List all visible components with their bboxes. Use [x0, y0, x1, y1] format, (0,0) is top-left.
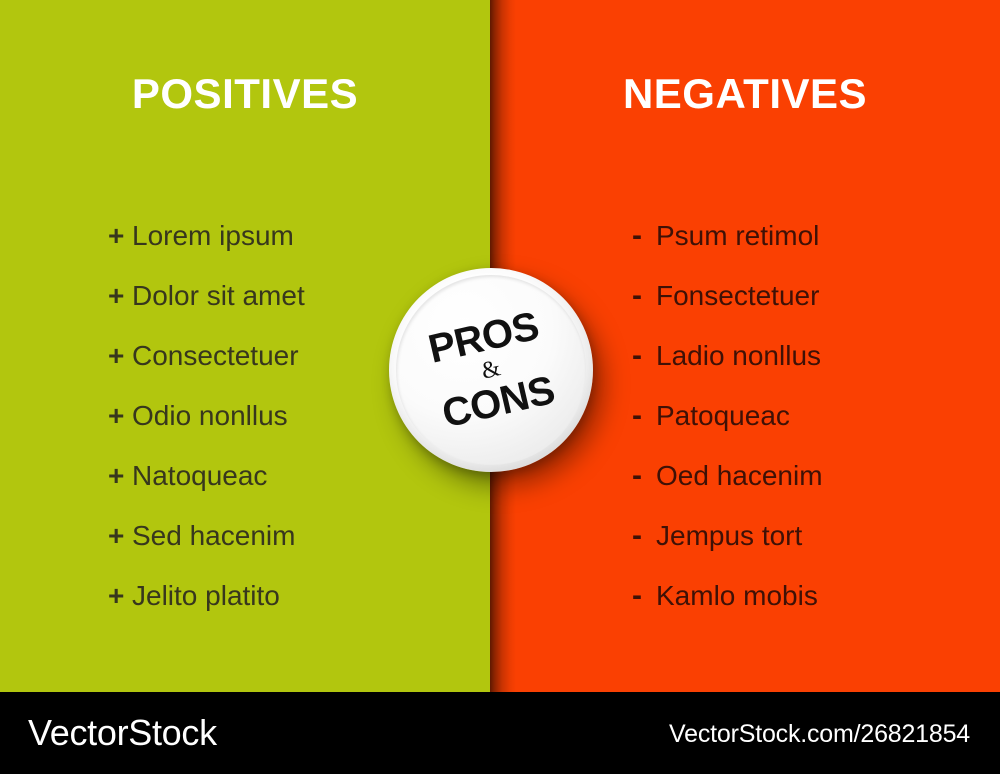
plus-icon: +	[108, 454, 132, 498]
minus-icon: -	[632, 394, 656, 438]
list-item-label: Dolor sit amet	[132, 274, 305, 318]
plus-icon: +	[108, 214, 132, 258]
list-item-label: Consectetuer	[132, 334, 299, 378]
list-item: -Patoqueac	[632, 394, 962, 454]
list-item-label: Sed hacenim	[132, 514, 295, 558]
plus-icon: +	[108, 274, 132, 318]
minus-icon: -	[632, 514, 656, 558]
list-item: +Jelito platito	[108, 574, 438, 634]
positives-list: +Lorem ipsum +Dolor sit amet +Consectetu…	[108, 214, 438, 634]
badge-cons-label: CONS	[438, 368, 558, 434]
list-item-label: Jelito platito	[132, 574, 280, 618]
list-item-label: Jempus tort	[656, 514, 802, 558]
pros-and-cons-badge: PROS & CONS	[389, 268, 593, 472]
plus-icon: +	[108, 334, 132, 378]
list-item-label: Lorem ipsum	[132, 214, 294, 258]
list-item: +Sed hacenim	[108, 514, 438, 574]
list-item: -Psum retimol	[632, 214, 962, 274]
list-item-label: Odio nonllus	[132, 394, 288, 438]
list-item: +Odio nonllus	[108, 394, 438, 454]
watermark-footer: VectorStock VectorStock.com/26821854	[0, 692, 1000, 774]
negatives-list: -Psum retimol -Fonsectetuer -Ladio nonll…	[632, 214, 962, 634]
minus-icon: -	[632, 214, 656, 258]
minus-icon: -	[632, 574, 656, 618]
plus-icon: +	[108, 394, 132, 438]
minus-icon: -	[632, 454, 656, 498]
list-item-label: Kamlo mobis	[656, 574, 818, 618]
plus-icon: +	[108, 514, 132, 558]
negatives-heading: NEGATIVES	[490, 68, 1000, 120]
list-item: -Jempus tort	[632, 514, 962, 574]
list-item-label: Natoqueac	[132, 454, 267, 498]
vectorstock-logo: VectorStock	[28, 710, 217, 756]
list-item: -Kamlo mobis	[632, 574, 962, 634]
vectorstock-url: VectorStock.com/26821854	[669, 718, 970, 750]
positives-heading: POSITIVES	[0, 68, 490, 120]
minus-icon: -	[632, 274, 656, 318]
list-item: -Fonsectetuer	[632, 274, 962, 334]
list-item-label: Patoqueac	[656, 394, 790, 438]
list-item-label: Ladio nonllus	[656, 334, 821, 378]
list-item: -Ladio nonllus	[632, 334, 962, 394]
list-item-label: Oed hacenim	[656, 454, 823, 498]
list-item: +Natoqueac	[108, 454, 438, 514]
minus-icon: -	[632, 334, 656, 378]
list-item: +Lorem ipsum	[108, 214, 438, 274]
list-item-label: Fonsectetuer	[656, 274, 819, 318]
list-item: -Oed hacenim	[632, 454, 962, 514]
infographic-canvas: POSITIVES NEGATIVES +Lorem ipsum +Dolor …	[0, 0, 1000, 774]
list-item-label: Psum retimol	[656, 214, 819, 258]
plus-icon: +	[108, 574, 132, 618]
